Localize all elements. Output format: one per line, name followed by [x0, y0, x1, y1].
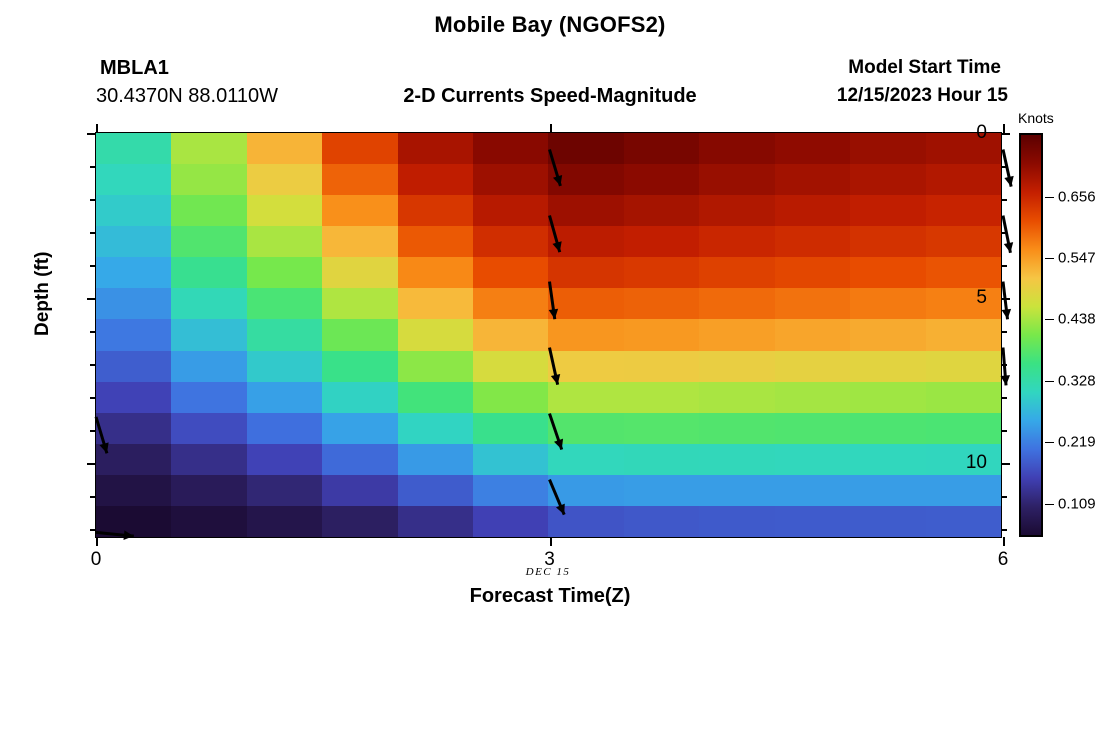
heatmap-cell: [398, 506, 473, 537]
colorbar-gradient: [1021, 135, 1041, 535]
heatmap-cell: [775, 413, 850, 444]
heatmap-cell: [247, 226, 322, 257]
heatmap-cell: [850, 288, 925, 319]
heatmap-cell: [699, 444, 774, 475]
heatmap-cell: [96, 226, 171, 257]
y-axis-minor-tick: [90, 232, 96, 234]
colorbar-tick: [1045, 258, 1054, 259]
heatmap-cell: [247, 475, 322, 506]
colorbar-tick-label: 0.438: [1058, 311, 1096, 328]
y-axis-tick-label: 5: [976, 287, 987, 309]
heatmap-cell: [624, 226, 699, 257]
heatmap-cell: [699, 506, 774, 537]
heatmap-cell: [548, 351, 623, 382]
heatmap-cell: [473, 351, 548, 382]
y-axis-tick-label: 0: [976, 122, 987, 144]
heatmap-cell: [699, 319, 774, 350]
y-axis-minor-tick: [90, 496, 96, 498]
heatmap-cell: [548, 382, 623, 413]
heatmap-cell: [398, 288, 473, 319]
heatmap-cell: [398, 195, 473, 226]
heatmap-cell: [398, 382, 473, 413]
colorbar-tick-label: 0.219: [1058, 434, 1096, 451]
model-start-time-value: 12/15/2023 Hour 15: [0, 85, 1008, 107]
heatmap-cell: [624, 413, 699, 444]
heatmap-cell: [850, 164, 925, 195]
heatmap-cell: [624, 164, 699, 195]
heatmap-cell: [322, 195, 397, 226]
heatmap-cell: [247, 382, 322, 413]
colorbar-tick: [1045, 504, 1054, 505]
y-axis-title: Depth (ft): [32, 252, 54, 336]
heatmap-cell: [398, 444, 473, 475]
y-axis-tick-right: [1001, 397, 1007, 399]
heatmap-cell: [699, 226, 774, 257]
heatmap-cell: [775, 382, 850, 413]
y-axis-major-tick: [87, 133, 96, 135]
x-axis-tick-top: [1003, 124, 1005, 133]
heatmap-cell: [775, 133, 850, 164]
heatmap-cell: [473, 257, 548, 288]
y-axis-tick-right: [1001, 496, 1007, 498]
colorbar-tick: [1045, 381, 1054, 382]
x-axis-tick-top: [550, 124, 552, 133]
heatmap-cell: [247, 319, 322, 350]
y-axis-minor-tick: [90, 166, 96, 168]
heatmap-cell: [473, 413, 548, 444]
heatmap-cell: [171, 444, 246, 475]
heatmap-cell: [624, 382, 699, 413]
heatmap-cell: [322, 226, 397, 257]
y-axis-tick-right: [1001, 166, 1007, 168]
y-axis-tick-right: [1001, 265, 1007, 267]
heatmap-cell: [96, 288, 171, 319]
heatmap-cell: [548, 506, 623, 537]
y-axis-minor-tick: [90, 199, 96, 201]
heatmap-cell: [699, 164, 774, 195]
heatmap-cell: [96, 195, 171, 226]
heatmap-cell: [850, 475, 925, 506]
heatmap-cell: [775, 288, 850, 319]
heatmap-cell: [171, 226, 246, 257]
x-axis-tick-label: 0: [91, 549, 102, 571]
colorbar-tick-label: 0.547: [1058, 250, 1096, 267]
heatmap-cell: [473, 382, 548, 413]
heatmap-cell: [624, 319, 699, 350]
y-axis-minor-tick: [90, 529, 96, 531]
heatmap-cell: [926, 133, 1001, 164]
heatmap-cell: [850, 257, 925, 288]
heatmap-cell: [926, 413, 1001, 444]
heatmap-cell: [548, 257, 623, 288]
colorbar-tick-label: 0.656: [1058, 188, 1096, 205]
heatmap-cell: [926, 257, 1001, 288]
heatmap-cell: [398, 257, 473, 288]
heatmap-cell: [171, 257, 246, 288]
heatmap-cell: [926, 195, 1001, 226]
heatmap-cell: [322, 319, 397, 350]
heatmap-cell: [850, 195, 925, 226]
heatmap-cell: [926, 319, 1001, 350]
heatmap-cell: [96, 319, 171, 350]
heatmap-cell: [699, 288, 774, 319]
heatmap-cell: [247, 351, 322, 382]
y-axis-tick-right: [1001, 232, 1007, 234]
model-start-time-label: Model Start Time: [0, 57, 1001, 79]
heatmap-cell: [850, 133, 925, 164]
colorbar-tick: [1045, 319, 1054, 320]
page-title: Mobile Bay (NGOFS2): [0, 12, 1100, 38]
heatmap-cell: [171, 195, 246, 226]
heatmap-cell: [171, 413, 246, 444]
heatmap-cell: [850, 413, 925, 444]
x-axis-tick: [1003, 537, 1005, 546]
heatmap-cell: [926, 351, 1001, 382]
y-axis-minor-tick: [90, 265, 96, 267]
heatmap-cell: [624, 475, 699, 506]
heatmap-cell: [775, 475, 850, 506]
x-axis-date-note: DEC 15: [526, 566, 571, 578]
heatmap-cell: [548, 226, 623, 257]
heatmap-cell: [247, 257, 322, 288]
heatmap-cell: [850, 382, 925, 413]
heatmap-cell: [398, 413, 473, 444]
heatmap-cell: [171, 319, 246, 350]
y-axis-major-tick: [87, 298, 96, 300]
heatmap-cell: [96, 444, 171, 475]
current-vector-arrow: [1000, 348, 1010, 386]
heatmap-cell: [624, 133, 699, 164]
heatmap-cell: [473, 195, 548, 226]
y-axis-minor-tick: [90, 397, 96, 399]
heatmap-cell: [548, 195, 623, 226]
heatmap-cell: [247, 133, 322, 164]
heatmap-cell: [96, 164, 171, 195]
heatmap-cell: [322, 257, 397, 288]
colorbar-tick: [1045, 197, 1054, 198]
heatmap-cell: [775, 506, 850, 537]
heatmap-cell: [775, 319, 850, 350]
y-axis-tick-right: [1001, 463, 1010, 465]
heatmap-cell: [322, 506, 397, 537]
heatmap-cell: [171, 288, 246, 319]
y-axis-tick-right: [1001, 430, 1007, 432]
current-vector-arrow: [1003, 150, 1014, 187]
heatmap-cell: [96, 382, 171, 413]
heatmap-cell: [548, 319, 623, 350]
y-axis-minor-tick: [90, 364, 96, 366]
heatmap-cell: [247, 413, 322, 444]
heatmap-cell: [624, 506, 699, 537]
heatmap-cell: [624, 195, 699, 226]
y-axis-tick-right: [1001, 298, 1010, 300]
heatmap-cell: [322, 382, 397, 413]
colorbar-tick: [1045, 442, 1054, 443]
heatmap-cell: [171, 164, 246, 195]
heatmap-cell: [398, 133, 473, 164]
heatmap-cell: [96, 413, 171, 444]
heatmap-cell: [926, 475, 1001, 506]
heatmap-cell: [548, 475, 623, 506]
heatmap-cell: [473, 133, 548, 164]
heatmap-cell: [398, 226, 473, 257]
heatmap-cell: [96, 133, 171, 164]
heatmap-cell: [850, 351, 925, 382]
heatmap-cell: [473, 506, 548, 537]
heatmap-cell: [775, 195, 850, 226]
heatmap-cell: [171, 351, 246, 382]
heatmap-cell: [322, 413, 397, 444]
heatmap-cell: [247, 506, 322, 537]
heatmap-cell: [473, 475, 548, 506]
heatmap-cell: [548, 133, 623, 164]
heatmap-cell: [699, 413, 774, 444]
heatmap-cell: [775, 351, 850, 382]
heatmap-cell: [926, 382, 1001, 413]
x-axis-tick-top: [96, 124, 98, 133]
heatmap-cell: [398, 475, 473, 506]
heatmap-cell: [247, 444, 322, 475]
heatmap-cell: [548, 444, 623, 475]
heatmap-cell: [548, 288, 623, 319]
heatmap-cell: [322, 288, 397, 319]
heatmap-cell: [398, 319, 473, 350]
heatmap-cell: [473, 164, 548, 195]
heatmap-cell: [850, 506, 925, 537]
heatmap-cell: [398, 351, 473, 382]
heatmap-grid: [96, 133, 1001, 537]
heatmap-cell: [473, 319, 548, 350]
current-vector-arrow: [1003, 216, 1013, 253]
heatmap-cell: [322, 133, 397, 164]
heatmap-cell: [171, 475, 246, 506]
x-axis-tick: [96, 537, 98, 546]
heatmap-cell: [548, 413, 623, 444]
heatmap-cell: [775, 164, 850, 195]
colorbar-tick-label: 0.109: [1058, 496, 1096, 513]
heatmap-cell: [926, 444, 1001, 475]
heatmap-cell: [624, 288, 699, 319]
heatmap-cell: [775, 444, 850, 475]
heatmap-cell: [398, 164, 473, 195]
heatmap-cell: [775, 226, 850, 257]
y-axis-tick-right: [1001, 364, 1007, 366]
y-axis-major-tick: [87, 463, 96, 465]
heatmap-cell: [322, 164, 397, 195]
heatmap-cell: [322, 351, 397, 382]
heatmap-cell: [96, 257, 171, 288]
colorbar-tick-label: 0.328: [1058, 373, 1096, 390]
heatmap-cell: [96, 506, 171, 537]
y-axis-tick-right: [1001, 133, 1010, 135]
heatmap-cell: [775, 257, 850, 288]
current-vector-arrow: [1002, 282, 1012, 320]
y-axis-tick-label: 10: [966, 452, 987, 474]
heatmap-cell: [699, 475, 774, 506]
heatmap-cell: [926, 164, 1001, 195]
heatmap-cell: [926, 288, 1001, 319]
heatmap-cell: [699, 195, 774, 226]
x-axis-title: Forecast Time(Z): [0, 585, 1100, 608]
heatmap-cell: [850, 444, 925, 475]
x-axis-tick: [550, 537, 552, 546]
colorbar: 0.6560.5470.4380.3280.2190.109: [1019, 133, 1043, 537]
x-axis-tick-label: 6: [998, 549, 1009, 571]
heatmap-cell: [247, 164, 322, 195]
y-axis-tick-right: [1001, 331, 1007, 333]
heatmap-cell: [473, 226, 548, 257]
heatmap-cell: [171, 133, 246, 164]
heatmap-cell: [699, 133, 774, 164]
heatmap-cell: [926, 506, 1001, 537]
y-axis-minor-tick: [90, 430, 96, 432]
heatmap-cell: [473, 444, 548, 475]
heatmap-cell: [624, 444, 699, 475]
heatmap-cell: [548, 164, 623, 195]
heatmap-cell: [473, 288, 548, 319]
heatmap-cell: [624, 257, 699, 288]
y-axis-tick-right: [1001, 529, 1007, 531]
heatmap-cell: [247, 195, 322, 226]
heatmap-cell: [624, 351, 699, 382]
heatmap-cell: [850, 319, 925, 350]
colorbar-unit-label: Knots: [1018, 110, 1054, 126]
heatmap-cell: [699, 382, 774, 413]
y-axis-tick-right: [1001, 199, 1007, 201]
y-axis-minor-tick: [90, 331, 96, 333]
heatmap-cell: [171, 506, 246, 537]
heatmap-cell: [926, 226, 1001, 257]
heatmap-cell: [322, 444, 397, 475]
heatmap-cell: [171, 382, 246, 413]
heatmap-plot-area: 0510 036: [95, 132, 1002, 538]
heatmap-cell: [699, 257, 774, 288]
heatmap-cell: [96, 351, 171, 382]
heatmap-cell: [322, 475, 397, 506]
heatmap-cell: [96, 475, 171, 506]
heatmap-cell: [699, 351, 774, 382]
heatmap-cell: [850, 226, 925, 257]
heatmap-cell: [247, 288, 322, 319]
